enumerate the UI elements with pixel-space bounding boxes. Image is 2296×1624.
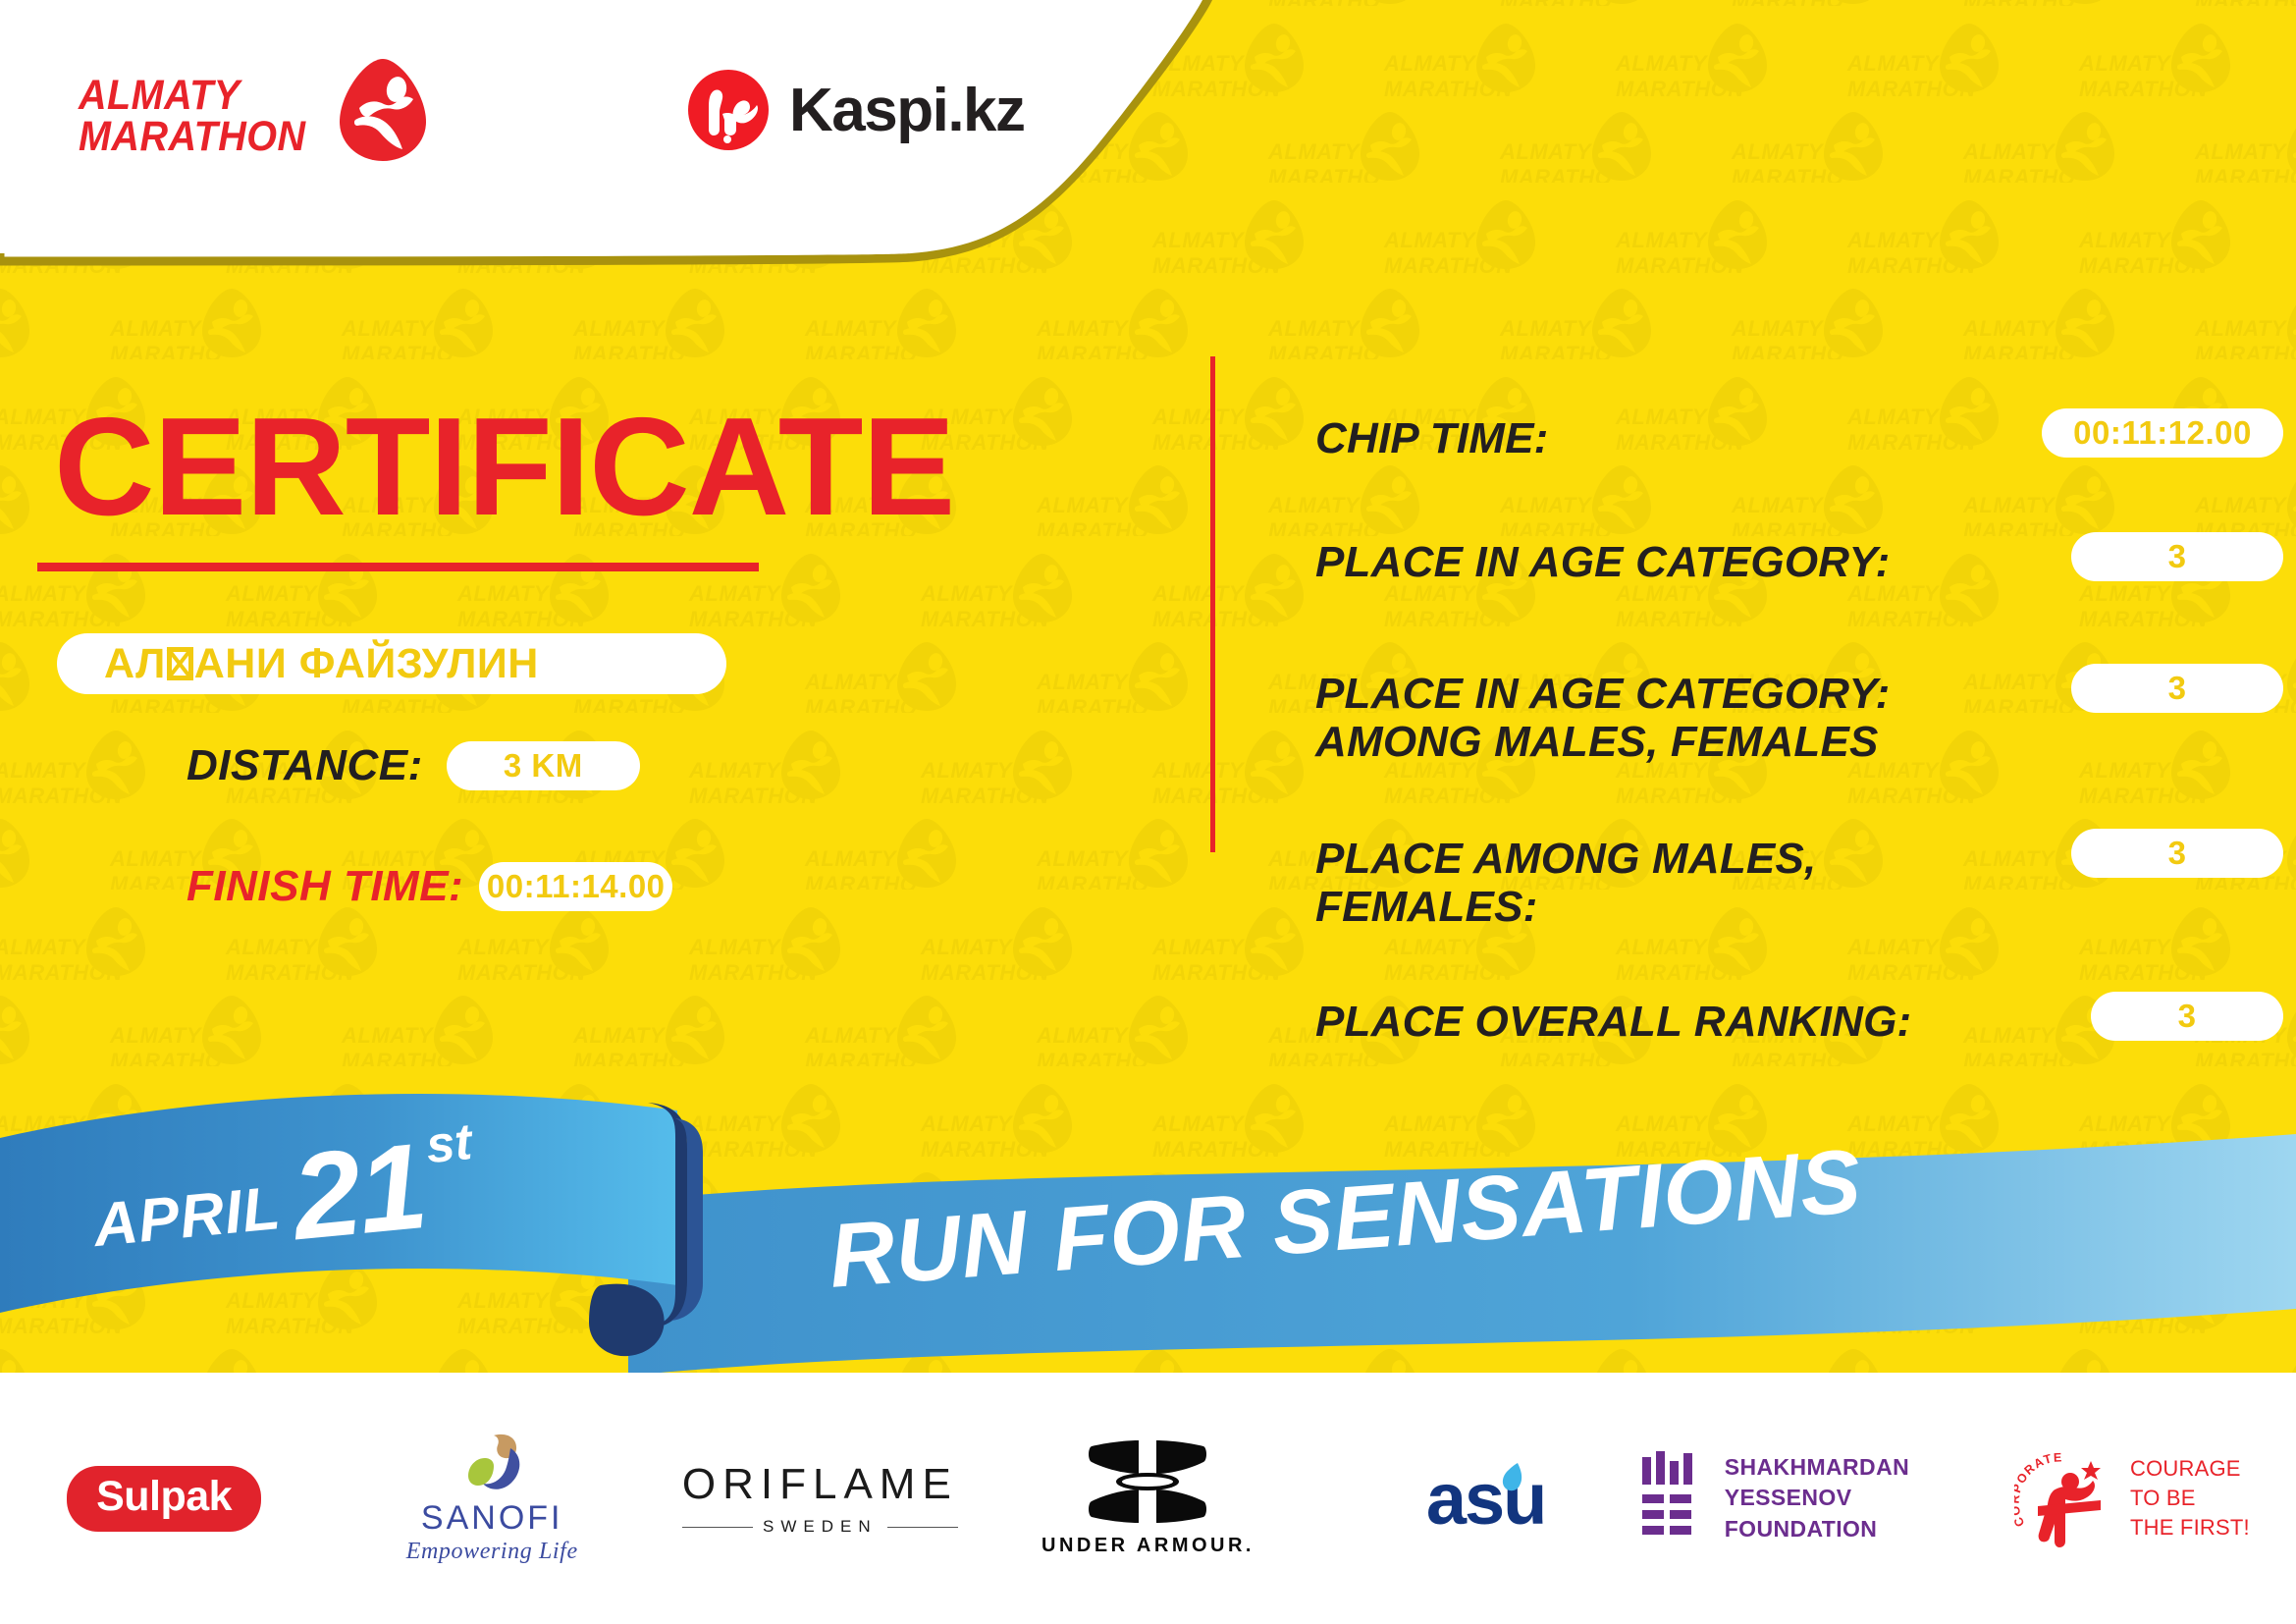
runner-mark-icon bbox=[338, 57, 428, 163]
sponsor-yessenov-foundation: SHAKHMARDAN YESSENOV FOUNDATION bbox=[1640, 1373, 1968, 1624]
almaty-logo-line2: MARATHON bbox=[79, 117, 305, 158]
oriflame-rule-left bbox=[682, 1527, 753, 1528]
under-armour-wordmark: UNDER ARMOUR. bbox=[1041, 1535, 1255, 1557]
oriflame-wordmark: ORIFLAME bbox=[682, 1460, 958, 1509]
stat-value: 3 bbox=[2091, 992, 2283, 1041]
sponsor-under-armour: UNDER ARMOUR. bbox=[984, 1373, 1311, 1624]
stat-label: PLACE AMONG MALES, FEMALES: bbox=[1315, 835, 1816, 932]
stat-value: 3 bbox=[2071, 664, 2283, 713]
certificate-canvas: ALMATY MARATHON Kaspi.kz CERTIF bbox=[0, 0, 2296, 1624]
finish-time-row: FINISH TIME: 00:11:14.00 bbox=[187, 862, 672, 911]
sanofi-bird-icon bbox=[454, 1433, 529, 1498]
stat-label: PLACE IN AGE CATEGORY: bbox=[1315, 538, 1890, 586]
under-armour-logo-icon bbox=[1088, 1440, 1207, 1528]
event-day: 21 bbox=[289, 1134, 430, 1251]
stat-value: 3 bbox=[2071, 532, 2283, 581]
asu-wordmark: asu bbox=[1426, 1457, 1546, 1541]
sponsor-sulpak: Sulpak bbox=[0, 1373, 328, 1624]
name-prefix: АЛ bbox=[104, 640, 166, 687]
almaty-marathon-logo: ALMATY MARATHON bbox=[79, 57, 428, 177]
asu-droplet-icon bbox=[1500, 1461, 1525, 1499]
sponsor-sanofi: SANOFI Empowering Life bbox=[328, 1373, 656, 1624]
courage-line2: TO BE bbox=[2130, 1484, 2250, 1513]
finish-time-value: 00:11:14.00 bbox=[479, 862, 672, 911]
kaspi-people-circle-icon bbox=[687, 69, 770, 151]
kaspi-wordmark: Kaspi.kz bbox=[789, 76, 1025, 145]
sanofi-wordmark: SANOFI bbox=[421, 1499, 563, 1538]
stat-label: CHIP TIME: bbox=[1315, 414, 1548, 462]
courage-child-icon: CORPORATE FUND bbox=[2014, 1443, 2116, 1554]
sponsor-oriflame: ORIFLAME SWEDEN bbox=[656, 1373, 984, 1624]
distance-label: DISTANCE: bbox=[187, 741, 423, 790]
stat-label: PLACE IN AGE CATEGORY: AMONG MALES, FEMA… bbox=[1315, 670, 1890, 767]
sponsor-asu: asu bbox=[1312, 1373, 1640, 1624]
stat-row-place-among-males-females: PLACE AMONG MALES, FEMALES: 3 bbox=[1315, 835, 2296, 932]
stat-row-place-overall-ranking: PLACE OVERALL RANKING: 3 bbox=[1315, 998, 2296, 1046]
name-suffix: АНИ ФАЙЗУЛИН bbox=[194, 640, 539, 687]
stat-value: 00:11:12.00 bbox=[2042, 408, 2283, 458]
distance-value: 3 KM bbox=[447, 741, 640, 790]
column-divider bbox=[1210, 356, 1215, 852]
oriflame-tagline: SWEDEN bbox=[763, 1517, 878, 1537]
participant-name-field: АЛАНИ ФАЙЗУЛИН bbox=[57, 633, 726, 694]
oriflame-rule-right bbox=[887, 1527, 958, 1528]
stat-row-place-age-category-among: PLACE IN AGE CATEGORY: AMONG MALES, FEMA… bbox=[1315, 670, 2296, 767]
yessenov-line2: FOUNDATION bbox=[1725, 1514, 1968, 1544]
sanofi-tagline: Empowering Life bbox=[406, 1539, 578, 1565]
stat-row-chip-time: CHIP TIME: 00:11:12.00 bbox=[1315, 414, 2296, 462]
kaspi-logo: Kaspi.kz bbox=[687, 69, 1025, 151]
stat-label: PLACE OVERALL RANKING: bbox=[1315, 998, 1911, 1046]
courage-line3: THE FIRST! bbox=[2130, 1513, 2250, 1543]
title-divider bbox=[37, 563, 759, 571]
stat-row-place-age-category: PLACE IN AGE CATEGORY: 3 bbox=[1315, 538, 2296, 586]
distance-row: DISTANCE: 3 KM bbox=[187, 741, 640, 790]
sponsor-strip: Sulpak SANOFI Empowering Life ORIFLAME bbox=[0, 1373, 2296, 1624]
almaty-marathon-wordmark: ALMATY MARATHON bbox=[79, 76, 305, 157]
almaty-logo-line1: ALMATY bbox=[79, 76, 305, 117]
stat-value: 3 bbox=[2071, 829, 2283, 878]
yessenov-line1: SHAKHMARDAN YESSENOV bbox=[1725, 1452, 1968, 1513]
sulpak-wordmark: Sulpak bbox=[67, 1466, 261, 1532]
participant-name-value: АЛАНИ ФАЙЗУЛИН bbox=[104, 640, 539, 688]
yessenov-bars-icon bbox=[1640, 1451, 1701, 1546]
page-title: CERTIFICATE bbox=[54, 398, 954, 537]
courage-line1: COURAGE bbox=[2130, 1454, 2250, 1484]
finish-time-label: FINISH TIME: bbox=[187, 862, 463, 911]
sponsor-courage-to-be-first: CORPORATE FUND COURAGE TO BE THE FIRST! bbox=[1968, 1373, 2296, 1624]
missing-glyph-icon bbox=[167, 647, 193, 680]
